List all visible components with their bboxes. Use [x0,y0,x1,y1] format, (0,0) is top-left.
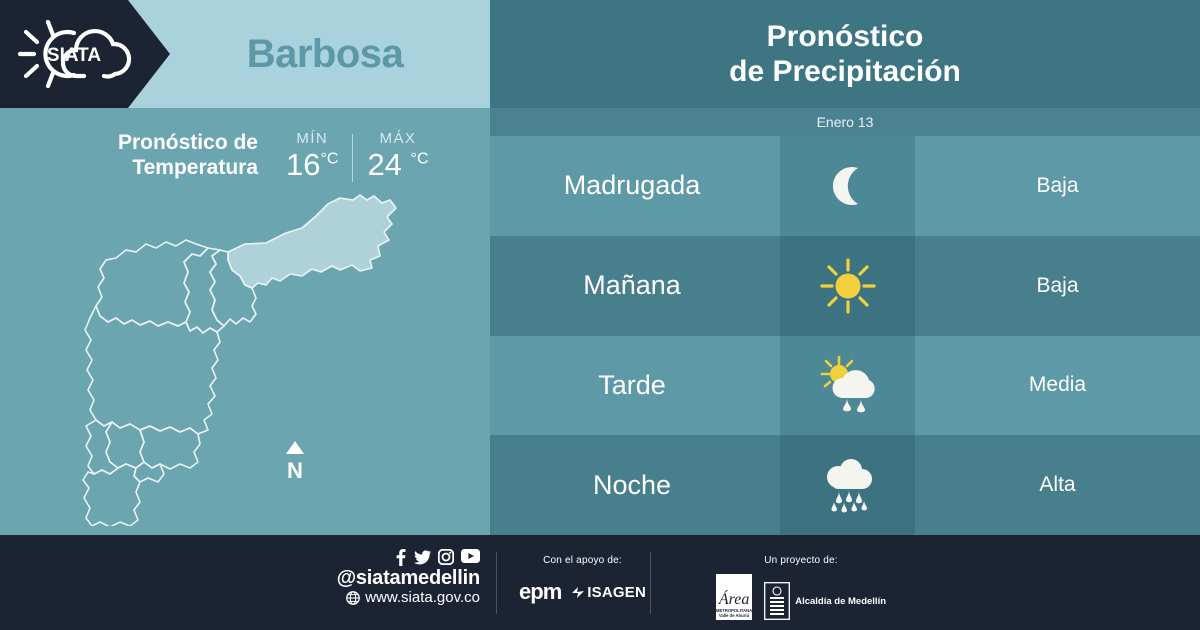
map-region-envigado[interactable] [140,426,200,469]
temperature-min-value-wrap: 16°C [286,148,338,182]
epm-logo: epm [519,579,561,605]
forecast-level-label: Media [1029,373,1086,397]
forecast-level-label: Alta [1039,473,1075,497]
isagen-mark-icon [571,586,585,599]
left-panel: SIATA Barbosa Pronóstico de Temperatura … [0,0,490,535]
table-row[interactable]: Mañana [490,236,1200,336]
precipitation-title-line2: de Precipitación [729,55,961,88]
forecast-icon-cell [780,435,915,535]
forecast-table: Madrugada Baja Mañana [490,136,1200,535]
map-region-bello[interactable] [96,240,208,326]
heavy-rain-icon [818,455,878,515]
forecast-level-label: Baja [1036,274,1078,298]
temperature-max-value: 24 [367,147,401,182]
precipitation-title: Pronóstico de Precipitación [729,19,961,90]
forecast-level-label: Baja [1036,174,1078,198]
sun-cloud-icon: SIATA [12,14,142,94]
alcaldia-crest-icon [764,582,790,620]
forecast-period-label: Mañana [583,270,681,301]
north-label: N [278,461,312,482]
forecast-period-label: Madrugada [564,170,701,201]
map-svg [40,186,430,526]
siata-logo-wedge: SIATA [0,0,170,108]
globe-icon [346,591,360,605]
temperature-max: MÁX 24 °C [353,130,442,182]
temperature-block: Pronóstico de Temperatura MÍN 16°C MÁX 2… [0,118,490,194]
map-region-copacabana[interactable] [184,248,224,333]
support-caption: Con el apoyo de: [505,555,660,566]
forecast-level-cell: Alta [915,435,1200,535]
forecast-period-label: Tarde [598,370,666,401]
temperature-and-map-panel: Pronóstico de Temperatura MÍN 16°C MÁX 2… [0,108,490,535]
temperature-title-line2: Temperatura [132,156,258,179]
forecast-date-band: Enero 13 [490,108,1200,136]
forecast-level-cell: Baja [915,236,1200,336]
social-block: @siatamedellin www.siata.gov.co [330,549,480,606]
alcaldia-label: Alcaldía de Medellín [795,596,886,607]
area-metropolitana-logo: Área METROPOLITANA Valle de Aburrá [716,574,752,620]
area-sub-line2: Valle de Aburrá [719,613,749,618]
table-row[interactable]: Noche [490,435,1200,535]
map-region-barbosa[interactable] [228,195,396,288]
website-row[interactable]: www.siata.gov.co [330,590,480,607]
forecast-period-label: Noche [593,470,671,501]
precipitation-header: Pronóstico de Precipitación [490,0,1200,108]
map-region-la-estrella[interactable] [86,420,118,474]
map-region-medellin[interactable] [85,306,220,434]
moon-icon [822,160,874,212]
isagen-label: ISAGEN [587,584,646,601]
social-icons [330,549,480,566]
forecast-period-cell: Tarde [490,336,780,436]
page-title: Barbosa [170,0,490,108]
temperature-min-unit: °C [320,151,338,168]
forecast-icon-cell [780,336,915,436]
forecast-level-cell: Baja [915,136,1200,236]
temperature-min: MÍN 16°C [272,130,352,182]
map-region-sabaneta[interactable] [134,462,164,482]
youtube-icon[interactable] [461,549,480,563]
precipitation-title-line1: Pronóstico [767,20,924,53]
twitter-icon[interactable] [414,549,431,566]
temperature-max-unit: °C [411,151,429,168]
area-word: Área [719,592,750,608]
forecast-period-cell: Noche [490,435,780,535]
instagram-icon[interactable] [438,549,454,565]
website-url[interactable]: www.siata.gov.co [365,590,480,607]
city-header: SIATA Barbosa [0,0,490,108]
sun-rain-cloud-icon [817,356,879,414]
temperature-title-line1: Pronóstico de [118,131,258,154]
isagen-logo: ISAGEN [571,584,646,601]
alcaldia-logo: Alcaldía de Medellín [764,582,886,620]
footer: @siatamedellin www.siata.gov.co Con el a… [0,535,1200,630]
temperature-max-value-wrap: 24 °C [367,148,428,182]
support-block: Con el apoyo de: epm ISAGEN [505,555,660,605]
temperature-values: MÍN 16°C MÁX 24 °C [272,130,443,182]
table-row[interactable]: Madrugada Baja [490,136,1200,236]
project-caption: Un proyecto de: [716,555,886,566]
north-indicator: N [278,440,312,482]
forecast-icon-cell [780,236,915,336]
temperature-max-label: MÁX [367,130,428,147]
map-region-caldas[interactable] [83,464,140,526]
table-row[interactable]: Tarde [490,336,1200,436]
sun-icon [819,257,877,315]
forecast-date: Enero 13 [817,114,874,130]
social-handle[interactable]: @siatamedellin [330,568,480,590]
north-arrow-icon [284,440,306,456]
facebook-icon[interactable] [394,549,407,566]
forecast-level-cell: Media [915,336,1200,436]
support-logos: epm ISAGEN [505,579,660,605]
temperature-min-label: MÍN [286,130,338,147]
footer-divider-1 [496,552,497,614]
weather-forecast-poster: SIATA Barbosa Pronóstico de Temperatura … [0,0,1200,630]
project-logos: Área METROPOLITANA Valle de Aburrá Alca [716,574,886,620]
forecast-period-cell: Mañana [490,236,780,336]
precipitation-panel: Pronóstico de Precipitación Enero 13 Mad… [490,0,1200,535]
project-block: Un proyecto de: Área METROPOLITANA Valle… [716,555,886,620]
map-region-itagui[interactable] [106,422,144,468]
valle-de-aburra-map [40,186,430,531]
footer-divider-2 [650,552,651,614]
temperature-title: Pronóstico de Temperatura [0,131,272,181]
forecast-period-cell: Madrugada [490,136,780,236]
siata-logo-text: SIATA [47,45,101,66]
temperature-min-value: 16 [286,147,320,182]
forecast-icon-cell [780,136,915,236]
